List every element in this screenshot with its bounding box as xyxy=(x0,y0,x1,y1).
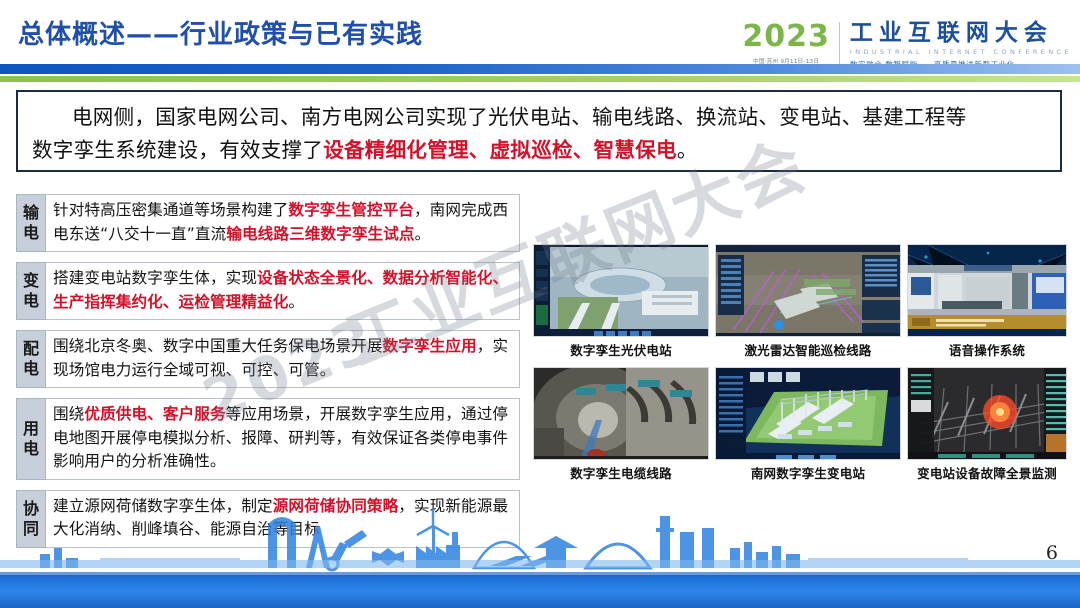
practice-row-tag: 配电 xyxy=(16,330,46,388)
gallery-cell-cable-tunnel[interactable]: 数字孪生电缆线路 xyxy=(533,367,709,482)
practice-row-tag-bottom: 电 xyxy=(23,223,39,243)
page-number: 6 xyxy=(1046,542,1058,564)
practice-row-tag-top: 配 xyxy=(23,339,39,359)
practice-row-tag-bottom: 电 xyxy=(23,359,39,379)
skyline-decoration xyxy=(0,502,1080,572)
practice-row-tag: 输电 xyxy=(16,194,46,252)
practice-row-plain: 搭建变电站数字孪生体，实现 xyxy=(53,269,257,287)
logo-text-block: 工业互联网大会 INDUSTRIAL INTERNET CONFERENCE 数… xyxy=(840,22,1072,70)
practice-row-plain: 针对特高压密集通道等场景构建了 xyxy=(53,201,288,219)
paragraph-line-1-text: 电网侧，国家电网公司、南方电网公司实现了光伏电站、输电线路、换流站、变电站、基建… xyxy=(72,105,966,129)
divider-green xyxy=(0,76,1080,82)
voice-system-art xyxy=(908,245,1067,337)
paragraph-line-2-text: 数字孪生系统建设，有效支撑了 xyxy=(32,138,323,162)
practice-row-text: 搭建变电站数字孪生体，实现设备状态全景化、数据分析智能化、生产指挥集约化、运检管… xyxy=(53,267,512,314)
summary-paragraph-box: 电网侧，国家电网公司、南方电网公司实现了光伏电站、输电线路、换流站、变电站、基建… xyxy=(16,90,1062,172)
practice-row-body: 围绕北京冬奥、数字中国重大任务保电场景开展数字孪生应用，实现场馆电力运行全域可视… xyxy=(46,330,520,388)
thumbnail-voice-system[interactable] xyxy=(907,244,1067,337)
practice-row-tag: 用电 xyxy=(16,398,46,480)
thumbnail-lidar-line[interactable] xyxy=(715,244,901,337)
logo-year-block: 2023 中国·苏州 9月11日-13日 xyxy=(742,22,840,65)
practice-row: 用电围绕优质供电、客户服务等应用场景，开展数字孪生应用，通过停电地图开展停电模拟… xyxy=(16,398,520,480)
skyline-art xyxy=(0,502,1080,572)
practice-row-plain: 围绕 xyxy=(53,405,84,423)
practice-row-highlight: 优质供电、客户服务 xyxy=(84,405,225,423)
practice-row: 配电围绕北京冬奥、数字中国重大任务保电场景开展数字孪生应用，实现场馆电力运行全域… xyxy=(16,330,520,388)
page-title: 总体概述——行业政策与已有实践 xyxy=(18,14,423,51)
image-gallery: 数字孪生光伏电站 xyxy=(533,244,1069,486)
practice-row-body: 针对特高压密集通道等场景构建了数字孪生管控平台，南网完成西电东送“八交十一直”直… xyxy=(46,194,520,252)
practice-row: 变电搭建变电站数字孪生体，实现设备状态全景化、数据分析智能化、生产指挥集约化、运… xyxy=(16,262,520,320)
gallery-row-1: 数字孪生光伏电站 xyxy=(533,244,1069,359)
fault-monitor-art xyxy=(908,368,1067,460)
cable-tunnel-art xyxy=(534,368,709,460)
practice-row-tag-top: 变 xyxy=(23,271,39,291)
practice-row-highlight: 数字孪生应用 xyxy=(383,337,477,355)
gallery-row-2: 数字孪生电缆线路 xyxy=(533,367,1069,482)
practice-row-tag-top: 用 xyxy=(23,419,39,439)
practice-row-highlight: 数字孪生管控平台 xyxy=(288,201,414,219)
logo-year: 2023 xyxy=(742,22,830,52)
practice-row-tag-bottom: 电 xyxy=(23,291,39,311)
practice-row-highlight: 输电线路三维数字孪生试点 xyxy=(226,225,414,243)
practice-row-plain: 。 xyxy=(288,293,304,311)
paragraph-line-2: 数字孪生系统建设，有效支撑了设备精细化管理、虚拟巡检、智慧保电。 xyxy=(32,134,1046,167)
paragraph-highlight: 设备精细化管理、虚拟巡检、智慧保电 xyxy=(323,138,677,162)
gallery-cell-fault-monitor[interactable]: 变电站设备故障全景监测 xyxy=(907,367,1067,482)
bottom-band xyxy=(0,572,1080,608)
practice-row-text: 围绕优质供电、客户服务等应用场景，开展数字孪生应用，通过停电地图开展停电模拟分析… xyxy=(53,403,512,474)
practice-row-text: 围绕北京冬奥、数字中国重大任务保电场景开展数字孪生应用，实现场馆电力运行全域可视… xyxy=(53,335,512,382)
caption-fault-monitor: 变电站设备故障全景监测 xyxy=(907,463,1067,482)
lidar-line-art xyxy=(716,245,901,337)
logo-name-en: INDUSTRIAL INTERNET CONFERENCE xyxy=(850,48,1072,56)
practice-row-body: 围绕优质供电、客户服务等应用场景，开展数字孪生应用，通过停电地图开展停电模拟分析… xyxy=(46,398,520,480)
practice-row-tag-top: 输 xyxy=(23,203,39,223)
practice-row-plain: 围绕北京冬奥、数字中国重大任务保电场景开展 xyxy=(53,337,383,355)
logo-name-cn: 工业互联网大会 xyxy=(850,22,1072,45)
substation-3d-art xyxy=(716,368,901,460)
gallery-cell-voice-system[interactable]: 语音操作系统 xyxy=(907,244,1067,359)
caption-cable-tunnel: 数字孪生电缆线路 xyxy=(533,463,709,482)
gallery-cell-lidar-line[interactable]: 激光雷达智能巡检线路 xyxy=(715,244,901,359)
thumbnail-cable-tunnel[interactable] xyxy=(533,367,709,460)
practice-row-tag: 变电 xyxy=(16,262,46,320)
pv-station-art xyxy=(534,245,709,337)
practice-row-tag-bottom: 电 xyxy=(23,439,39,459)
divider-blue xyxy=(0,64,1080,74)
paragraph-line-1: 电网侧，国家电网公司、南方电网公司实现了光伏电站、输电线路、换流站、变电站、基建… xyxy=(32,101,1046,134)
caption-lidar-line: 激光雷达智能巡检线路 xyxy=(715,340,901,359)
caption-pv-station: 数字孪生光伏电站 xyxy=(533,340,709,359)
thumbnail-fault-monitor[interactable] xyxy=(907,367,1067,460)
thumbnail-pv-station[interactable] xyxy=(533,244,709,337)
caption-substation-3d: 南网数字孪生变电站 xyxy=(715,463,901,482)
practice-row-text: 针对特高压密集通道等场景构建了数字孪生管控平台，南网完成西电东送“八交十一直”直… xyxy=(53,199,512,246)
practice-row-body: 搭建变电站数字孪生体，实现设备状态全景化、数据分析智能化、生产指挥集约化、运检管… xyxy=(46,262,520,320)
gallery-cell-pv-station[interactable]: 数字孪生光伏电站 xyxy=(533,244,709,359)
gallery-cell-substation-3d[interactable]: 南网数字孪生变电站 xyxy=(715,367,901,482)
thumbnail-substation-3d[interactable] xyxy=(715,367,901,460)
practice-row: 输电针对特高压密集通道等场景构建了数字孪生管控平台，南网完成西电东送“八交十一直… xyxy=(16,194,520,252)
paragraph-line-2-tail: 。 xyxy=(677,138,698,162)
caption-voice-system: 语音操作系统 xyxy=(907,340,1067,359)
practice-row-plain: 。 xyxy=(415,225,431,243)
